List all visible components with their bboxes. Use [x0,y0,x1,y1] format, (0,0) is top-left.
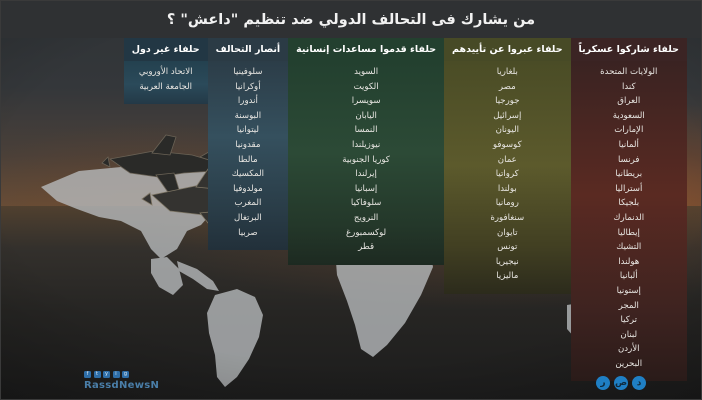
list-item: الولايات المتحدة [581,65,677,80]
list-item: فرنسا [581,153,677,168]
list-item: جورجيا [454,94,561,109]
list-item: مصر [454,80,561,95]
list-item: تايوان [454,226,561,241]
list-item: أستراليا [581,182,677,197]
social-icon-y[interactable]: y [103,371,110,378]
column-header-non-state-allies: حلفاء غير دول [124,38,208,61]
brand-name: RassdNewsN [84,380,159,391]
column-header-coalition-supporters: أنصار التحالف [208,38,289,61]
list-item: ألبانيا [581,269,677,284]
social-icon-i[interactable]: i [113,371,120,378]
social-icon-g[interactable]: g [122,371,129,378]
column-header-supportive-allies: حلفاء عبروا عن تأييدهم [444,38,571,61]
list-item: اليابان [298,109,434,124]
list-item: المغرب [218,196,279,211]
column-humanitarian-allies: حلفاء قدموا مساعدات إنسانيةالسويدالكويتس… [288,38,444,265]
list-item: إستونيا [581,284,677,299]
list-item: ألمانيا [581,138,677,153]
list-item: تونس [454,240,561,255]
list-item: الأردن [581,342,677,357]
list-item: هولندا [581,255,677,270]
rassd-badges: رصد [596,376,646,390]
list-item: العراق [581,94,677,109]
column-coalition-supporters: أنصار التحالفسلوفينياأوكرانياأندوراالبوس… [208,38,289,250]
list-item: لبنان [581,328,677,343]
list-item: البرتغال [218,211,279,226]
list-item: السعودية [581,109,677,124]
category-columns: حلفاء غير دولالاتحاد الأوروبيالجامعة الع… [124,38,687,381]
list-item: مالطا [218,153,279,168]
list-item: بريطانيا [581,167,677,182]
column-supportive-allies: حلفاء عبروا عن تأييدهمبلغاريامصرجورجياإس… [444,38,571,294]
column-list-military-allies: الولايات المتحدةكنداالعراقالسعوديةالإمار… [571,61,687,381]
header-bar: من يشارك فى التحالف الدولي ضد تنظيم "داع… [1,1,701,38]
badge-icon: د [632,376,646,390]
list-item: الإمارات [581,123,677,138]
column-header-humanitarian-allies: حلفاء قدموا مساعدات إنسانية [288,38,444,61]
list-item: كوريا الجنوبية [298,153,434,168]
column-header-military-allies: حلفاء شاركوا عسكرياً [571,38,687,61]
list-item: اليونان [454,123,561,138]
list-item: سويسرا [298,94,434,109]
list-item: سلوفاكيا [298,196,434,211]
list-item: قطر [298,240,434,255]
list-item: سلوفينيا [218,65,279,80]
list-item: الدنمارك [581,211,677,226]
page-title: من يشارك فى التحالف الدولي ضد تنظيم "داع… [167,12,535,28]
list-item: البحرين [581,357,677,372]
brand-block: ftyig RassdNewsN [84,371,159,391]
list-item: المكسيك [218,167,279,182]
list-item: البوسنة [218,109,279,124]
list-item: كندا [581,80,677,95]
infographic-canvas: رصد من يشارك فى التح [0,0,702,400]
list-item: لوكسمبورغ [298,226,434,241]
list-item: كرواتيا [454,167,561,182]
list-item: الاتحاد الأوروبي [134,65,198,80]
list-item: السويد [298,65,434,80]
list-item: المجر [581,299,677,314]
list-item: سنغافورة [454,211,561,226]
column-list-coalition-supporters: سلوفينياأوكرانياأندوراالبوسنةليتوانيامقد… [208,61,289,250]
list-item: النمسا [298,123,434,138]
social-icons: ftyig [84,371,159,378]
list-item: رومانيا [454,196,561,211]
list-item: كوسوفو [454,138,561,153]
list-item: نيوزيلندا [298,138,434,153]
column-military-allies: حلفاء شاركوا عسكرياًالولايات المتحدةكندا… [571,38,687,381]
social-icon-t[interactable]: t [94,371,101,378]
list-item: تركيا [581,313,677,328]
list-item: صربيا [218,226,279,241]
list-item: أوكرانيا [218,80,279,95]
list-item: الجامعة العربية [134,80,198,95]
list-item: عمان [454,153,561,168]
list-item: إيرلندا [298,167,434,182]
list-item: ماليزيا [454,269,561,284]
column-list-humanitarian-allies: السويدالكويتسويسرااليابانالنمسانيوزيلندا… [288,61,444,265]
list-item: أندورا [218,94,279,109]
list-item: ليتوانيا [218,123,279,138]
column-list-non-state-allies: الاتحاد الأوروبيالجامعة العربية [124,61,208,104]
list-item: مولدوفيا [218,182,279,197]
list-item: التشيك [581,240,677,255]
column-non-state-allies: حلفاء غير دولالاتحاد الأوروبيالجامعة الع… [124,38,208,104]
badge-icon: ص [614,376,628,390]
social-icon-f[interactable]: f [84,371,91,378]
list-item: إسبانيا [298,182,434,197]
badge-icon: ر [596,376,610,390]
list-item: نيجيريا [454,255,561,270]
list-item: الكويت [298,80,434,95]
list-item: بلجيكا [581,196,677,211]
column-list-supportive-allies: بلغاريامصرجورجياإسرائيلاليونانكوسوفوعمان… [444,61,571,294]
list-item: النرويج [298,211,434,226]
list-item: بولندا [454,182,561,197]
list-item: مقدونيا [218,138,279,153]
list-item: إسرائيل [454,109,561,124]
list-item: إيطاليا [581,226,677,241]
list-item: بلغاريا [454,65,561,80]
